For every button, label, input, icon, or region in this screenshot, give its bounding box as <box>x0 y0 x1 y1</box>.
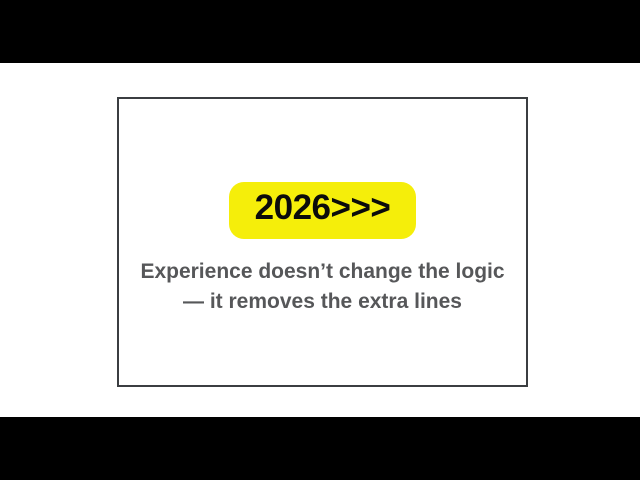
letterbox-bar-top <box>0 0 640 63</box>
slide-canvas: 2026>>> Experience doesn’t change the lo… <box>0 63 640 417</box>
year-badge-label: 2026>>> <box>255 188 391 228</box>
year-badge: 2026>>> <box>229 182 417 238</box>
caption: Experience doesn’t change the logic — it… <box>140 257 504 318</box>
slide-card: 2026>>> Experience doesn’t change the lo… <box>117 97 528 387</box>
caption-line-1: Experience doesn’t change the logic <box>140 257 504 287</box>
letterbox-bar-bottom <box>0 417 640 480</box>
caption-line-2: — it removes the extra lines <box>140 287 504 317</box>
video-stage: 2026>>> Experience doesn’t change the lo… <box>0 0 640 480</box>
slide-content: 2026>>> Experience doesn’t change the lo… <box>119 99 526 385</box>
